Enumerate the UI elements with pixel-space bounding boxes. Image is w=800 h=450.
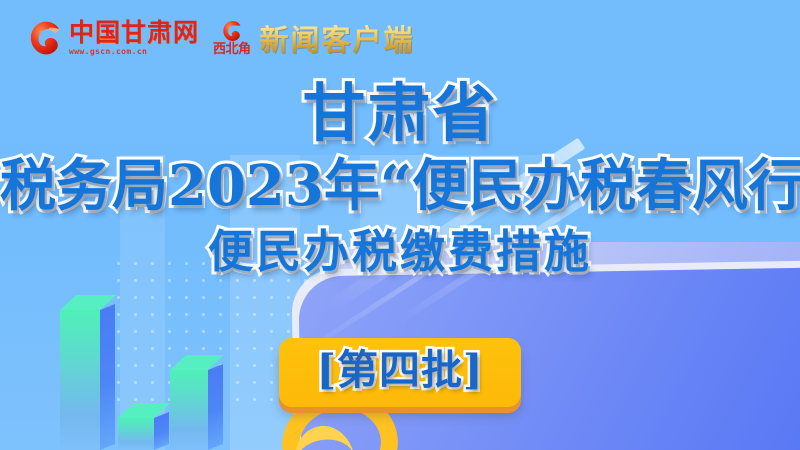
news-client-label: 新闻客户端 <box>260 17 415 59</box>
title-line-1: 甘肃省 <box>0 78 800 149</box>
batch-badge: [第四批] <box>279 338 522 407</box>
brand-url: www.gscn.com.cn <box>69 48 199 56</box>
chart-bar-short <box>118 418 154 450</box>
header-logo-bar: 中国甘肃网 www.gscn.com.cn <box>28 17 415 59</box>
xibeijiao-mark: 西北角 <box>213 20 251 56</box>
red-swirl-icon <box>221 20 243 42</box>
batch-badge-label: [第四批] <box>317 348 484 393</box>
brand-name: 中国甘肃网 <box>69 20 199 45</box>
poster-canvas: 中国甘肃网 www.gscn.com.cn <box>0 0 800 450</box>
logo-news-client[interactable]: 西北角 新闻客户端 <box>213 17 415 59</box>
title-block: 甘肃省 税务局2023年“便民办税春风行动” 便民办税缴费措施 <box>0 78 800 278</box>
bar-front-face <box>118 418 154 450</box>
logo-gansu-net[interactable]: 中国甘肃网 www.gscn.com.cn <box>28 20 199 56</box>
xibeijiao-label: 西北角 <box>213 43 251 56</box>
title-line-2: 税务局2023年“便民办税春风行动” <box>0 155 800 218</box>
title-line-3: 便民办税缴费措施 <box>0 227 800 277</box>
red-swirl-icon <box>28 20 62 56</box>
bar-side-face <box>154 412 169 450</box>
brand-gansu-net-text: 中国甘肃网 www.gscn.com.cn <box>69 20 199 56</box>
badge-container: [第四批] <box>0 338 800 407</box>
